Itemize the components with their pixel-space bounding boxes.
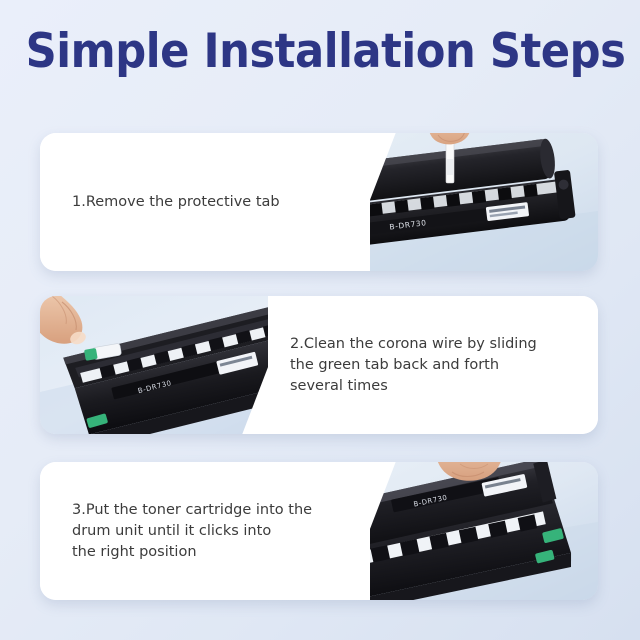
- step-2-text: 2.Clean the corona wire by sliding the g…: [268, 334, 555, 397]
- step-3-text: 3.Put the toner cartridge into the drum …: [40, 500, 320, 563]
- page-title: Simple Installation Steps: [26, 22, 615, 82]
- step-card-2: B-DR730 2.Clean the c: [40, 296, 598, 434]
- step-1-text: 1.Remove the protective tab: [40, 192, 288, 213]
- step-card-3: B-DR730 3.Put the toner cartridge into t…: [40, 462, 598, 600]
- step-1-text-panel: 1.Remove the protective tab: [40, 133, 370, 271]
- step-3-text-panel: 3.Put the toner cartridge into the drum …: [40, 462, 370, 600]
- step-card-1: B-DR730: [40, 133, 598, 271]
- step-2-text-panel: 2.Clean the corona wire by sliding the g…: [268, 296, 598, 434]
